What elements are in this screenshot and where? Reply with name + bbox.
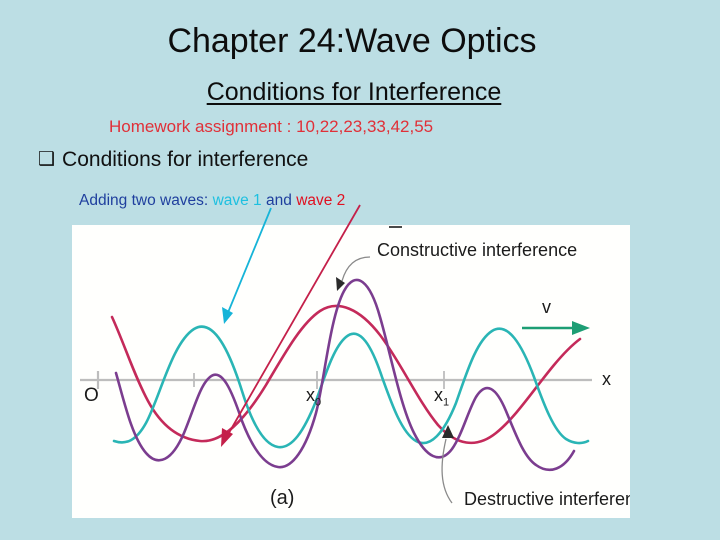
square-bullet-icon: ❑ (38, 148, 55, 171)
point-label-x1: x1 (434, 385, 449, 409)
origin-label: O (84, 385, 99, 407)
adding-waves-caption: Adding two waves: wave 1 and wave 2 (79, 192, 345, 210)
page-title: Chapter 24:Wave Optics (0, 22, 720, 61)
adding-conjunction: and (266, 192, 292, 209)
destructive-leader (442, 425, 454, 503)
figure-caption: (a) (270, 487, 294, 510)
velocity-arrow (522, 321, 590, 335)
velocity-label: v (542, 297, 551, 318)
axis-label-x: x (602, 369, 611, 390)
page-subtitle: Conditions for Interference (0, 78, 720, 107)
slide-root: Chapter 24:Wave Optics Conditions for In… (0, 0, 720, 540)
wave-figure-svg (72, 225, 630, 518)
bullet-item-conditions: ❑Conditions for interference (38, 148, 308, 172)
homework-assignment: Homework assignment : 10,22,23,33,42,55 (109, 117, 433, 137)
wave-figure-panel: O x0 x1 x v Constructive interference De… (72, 225, 630, 518)
point-label-x0: x0 (306, 385, 321, 409)
adding-prefix: Adding two waves: (79, 192, 208, 209)
bullet-item-label: Conditions for interference (62, 148, 308, 171)
wave1-label: wave 1 (213, 192, 262, 209)
annotation-constructive: Constructive interference (377, 240, 577, 261)
wave2-label: wave 2 (296, 192, 345, 209)
annotation-destructive: Destructive interference (464, 489, 630, 510)
page-subtitle-text: Conditions for Interference (207, 78, 502, 106)
